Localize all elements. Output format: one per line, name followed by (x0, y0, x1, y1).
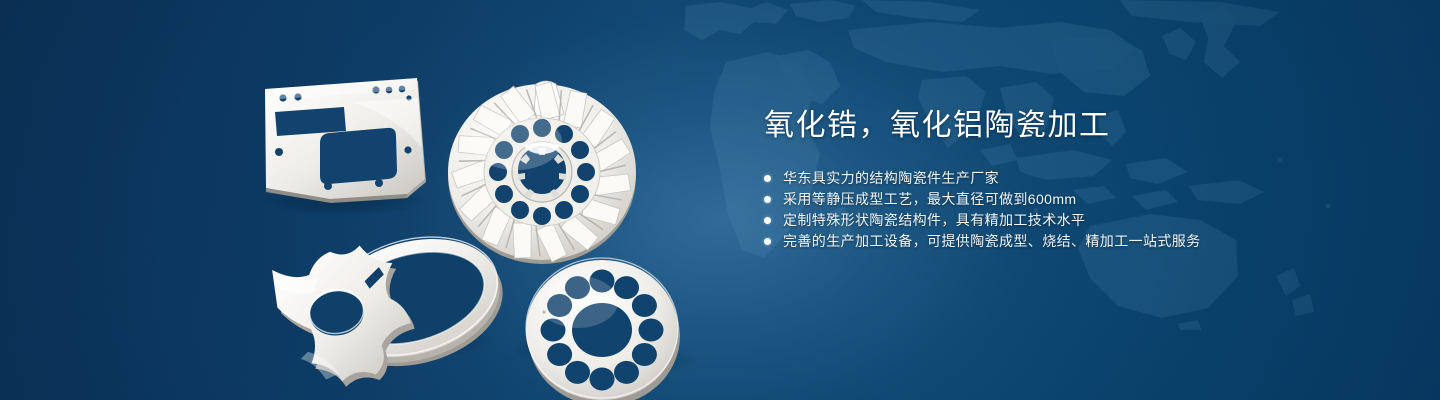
list-item: 华东具实力的结构陶瓷件生产厂家 (764, 168, 1324, 189)
page-title: 氧化锆，氧化铝陶瓷加工 (764, 106, 1324, 146)
bullet-dot-icon (764, 175, 771, 182)
bullet-dot-icon (764, 238, 771, 245)
ceramic-mounting-plate (265, 78, 426, 203)
feature-list: 华东具实力的结构陶瓷件生产厂家 采用等静压成型工艺，最大直径可做到600mm 定… (764, 168, 1324, 252)
ceramic-perforated-disc (526, 258, 680, 400)
list-item-label: 完善的生产加工设备，可提供陶瓷成型、烧结、精加工一站式服务 (783, 231, 1201, 252)
banner-text-column: 氧化锆，氧化铝陶瓷加工 华东具实力的结构陶瓷件生产厂家 采用等静压成型工艺，最大… (764, 106, 1324, 252)
bullet-dot-icon (764, 217, 771, 224)
list-item-label: 采用等静压成型工艺，最大直径可做到600mm (783, 189, 1076, 210)
list-item-label: 华东具实力的结构陶瓷件生产厂家 (783, 168, 999, 189)
list-item: 定制特殊形状陶瓷结构件，具有精加工技术水平 (764, 210, 1324, 231)
list-item: 采用等静压成型工艺，最大直径可做到600mm (764, 189, 1324, 210)
hero-banner: 氧化锆，氧化铝陶瓷加工 华东具实力的结构陶瓷件生产厂家 采用等静压成型工艺，最大… (0, 0, 1440, 400)
list-item-label: 定制特殊形状陶瓷结构件，具有精加工技术水平 (783, 210, 1085, 231)
bullet-dot-icon (764, 196, 771, 203)
ceramic-impeller-disc (448, 81, 636, 264)
list-item: 完善的生产加工设备，可提供陶瓷成型、烧结、精加工一站式服务 (764, 231, 1324, 252)
ceramic-products-image (232, 40, 692, 380)
